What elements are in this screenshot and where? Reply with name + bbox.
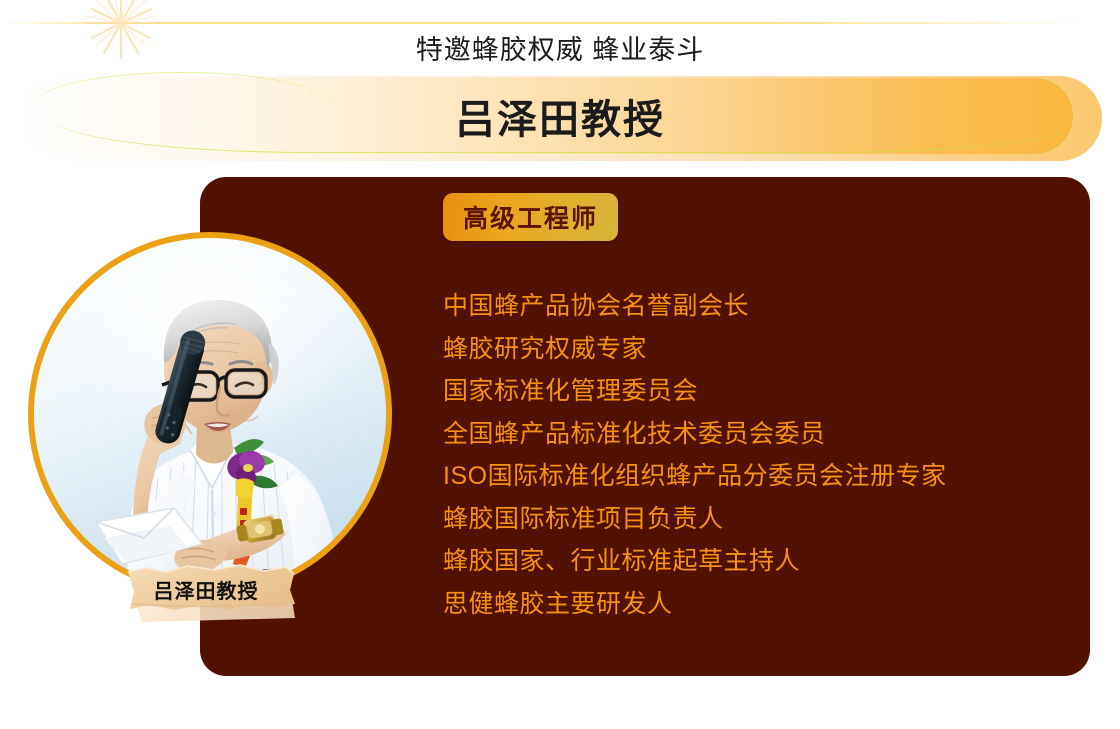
list-item: 思健蜂胶主要研发人 (443, 583, 1063, 626)
name-tag: 吕泽田教授 (122, 560, 308, 624)
list-item: ISO国际标准化组织蜂产品分委员会注册专家 (443, 455, 1063, 498)
list-item: 中国蜂产品协会名誉副会长 (443, 285, 1063, 328)
header-divider-line (0, 22, 1085, 24)
page-subtitle: 特邀蜂胶权威 蜂业泰斗 (0, 28, 1120, 67)
list-item: 国家标准化管理委员会 (443, 370, 1063, 413)
list-item: 全国蜂产品标准化技术委员会委员 (443, 413, 1063, 456)
status-badge: 高级工程师 (443, 193, 618, 241)
list-item: 蜂胶研究权威专家 (443, 328, 1063, 371)
portrait-photo (28, 232, 392, 596)
poster-page: 特邀蜂胶权威 蜂业泰斗 吕泽田教授 高级工程师 中国蜂产品协会名誉副会长 蜂胶研… (0, 0, 1120, 729)
list-item: 蜂胶国家、行业标准起草主持人 (443, 540, 1063, 583)
credentials-list: 中国蜂产品协会名誉副会长 蜂胶研究权威专家 国家标准化管理委员会 全国蜂产品标准… (443, 285, 1063, 625)
name-tag-label: 吕泽田教授 (122, 568, 290, 610)
badge-label: 高级工程师 (463, 199, 598, 235)
list-item: 蜂胶国际标准项目负责人 (443, 498, 1063, 541)
page-title: 吕泽田教授 (18, 76, 1102, 161)
title-banner: 吕泽田教授 (18, 76, 1102, 161)
